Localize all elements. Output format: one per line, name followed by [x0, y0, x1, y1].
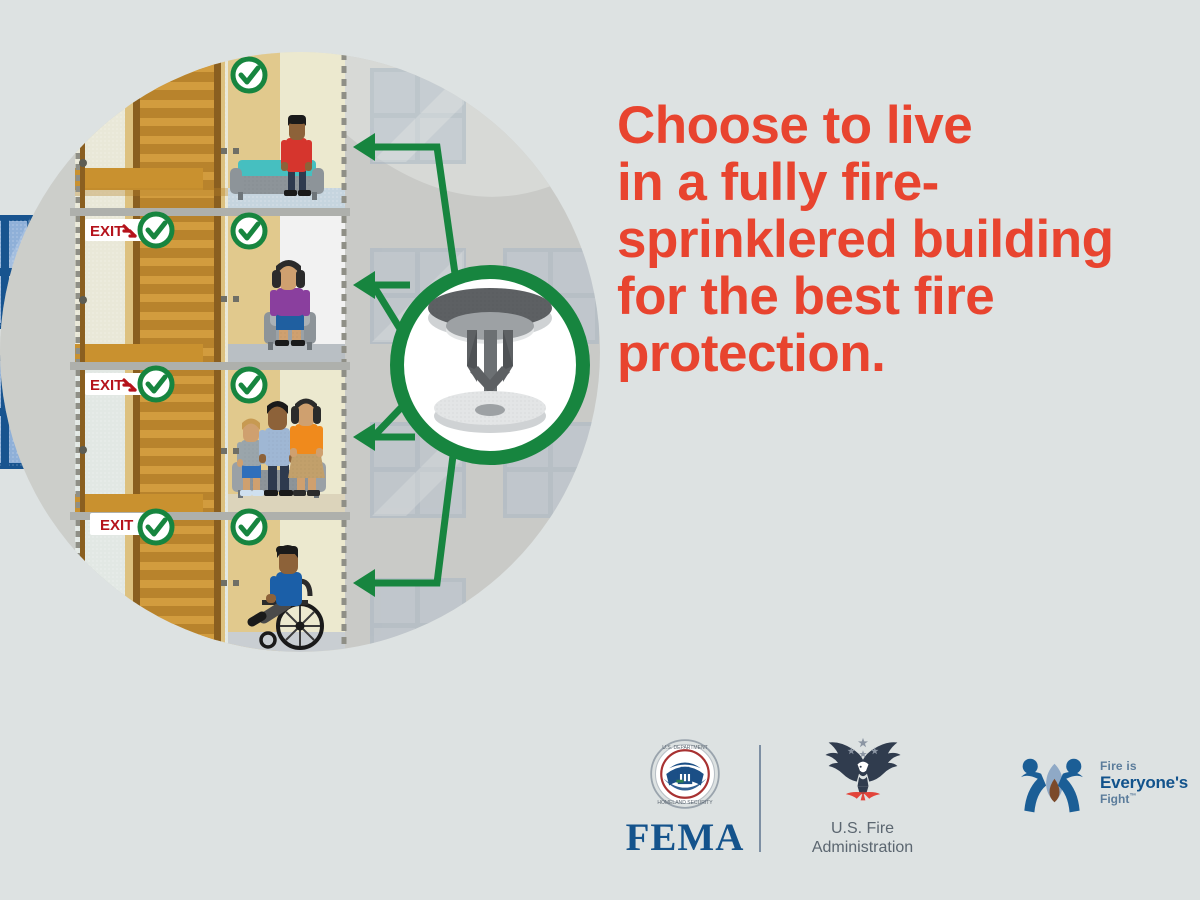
logo-divider [759, 745, 761, 852]
fief-wordmark: Fire is Everyone's Fight™ [1100, 760, 1188, 805]
checkmark-badge-unit-1 [233, 511, 265, 543]
checkmark-badge-unit-4 [233, 59, 265, 91]
trademark-symbol: ™ [1129, 793, 1136, 800]
checkmark-badge-stair-3 [140, 214, 172, 246]
fief-line-2: Everyone's [1100, 774, 1188, 791]
fema-logo: U.S. DEPARTMENT HOMELAND SECURITY FEMA [620, 738, 750, 859]
checkmark-badge-unit-3 [233, 215, 265, 247]
exit-sign-3: EXIT [85, 219, 143, 241]
footer-logos: U.S. DEPARTMENT HOMELAND SECURITY FEMA [600, 730, 1200, 870]
svg-text:EXIT: EXIT [90, 377, 123, 394]
usfa-eagle-logo [820, 736, 906, 810]
checkmark-badge-stair-4 [136, 58, 164, 86]
floor-3: EXIT [75, 214, 345, 366]
poster-canvas: EXIT [0, 0, 1200, 900]
checkmark-badge-stair-2 [140, 368, 172, 400]
svg-text:EXIT: EXIT [100, 517, 133, 534]
usfa-wordmark: U.S. Fire Administration [795, 819, 930, 857]
svg-text:HOMELAND SECURITY: HOMELAND SECURITY [657, 800, 713, 806]
fire-is-everyones-fight-icon [1012, 752, 1097, 814]
page-title: Choose to live in a fully fire- sprinkle… [617, 97, 1162, 382]
svg-text:EXIT: EXIT [90, 223, 123, 240]
building-cutaway: EXIT [70, 40, 350, 660]
building-illustration: EXIT [0, 0, 600, 700]
sprinkler-callout [397, 272, 583, 458]
floor-1: EXIT [75, 511, 345, 660]
fief-line-3: Fight™ [1100, 793, 1188, 805]
dhs-seal: U.S. DEPARTMENT HOMELAND SECURITY [649, 738, 721, 810]
usfa-line-1: U.S. Fire [795, 819, 930, 838]
checkmark-badge-unit-2 [233, 369, 265, 401]
exit-sign-2: EXIT [85, 373, 143, 395]
floor-4 [75, 40, 345, 212]
usfa-line-2: Administration [795, 838, 930, 857]
fema-wordmark: FEMA [620, 817, 750, 859]
usfa-logo: U.S. Fire Administration [795, 736, 930, 857]
checkmark-badge-stair-1 [140, 511, 172, 543]
fief-line-1: Fire is [1100, 760, 1188, 772]
floor-2: EXIT [75, 368, 345, 516]
svg-text:U.S. DEPARTMENT: U.S. DEPARTMENT [662, 745, 707, 751]
fief-logo: Fire is Everyone's Fight™ [1012, 752, 1192, 822]
